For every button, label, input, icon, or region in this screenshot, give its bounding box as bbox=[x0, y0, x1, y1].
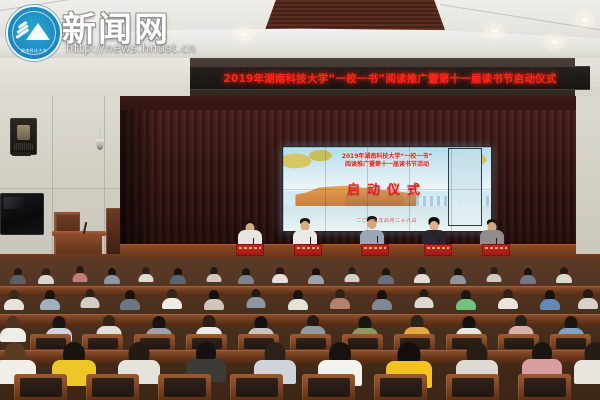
audience-member bbox=[486, 267, 501, 282]
audience-member bbox=[450, 268, 466, 284]
ceiling-seam bbox=[440, 4, 600, 32]
name-placard bbox=[294, 244, 322, 256]
audience-member bbox=[520, 268, 536, 284]
audience-member bbox=[498, 289, 518, 309]
screen-subtitle-block: 2019年湖南科技大学“一校一书” 阅读推广暨第十一届读书节活动 bbox=[283, 153, 491, 169]
audience-member bbox=[80, 289, 99, 308]
speaker-mount bbox=[12, 152, 31, 156]
audience-member bbox=[378, 268, 394, 284]
seat-back bbox=[446, 374, 499, 400]
seat-back bbox=[518, 374, 571, 400]
table-microphone-icon bbox=[310, 237, 311, 244]
logo-chinese-name: 湖南科技大学 bbox=[8, 48, 60, 54]
seat-back bbox=[374, 374, 427, 400]
audience-member bbox=[0, 316, 26, 342]
ceiling-downlight bbox=[238, 30, 251, 38]
name-placard bbox=[236, 244, 264, 256]
logo-mountain-mark bbox=[17, 20, 51, 40]
audience-member bbox=[120, 290, 140, 310]
name-placard bbox=[482, 244, 510, 256]
ceiling-downlight bbox=[578, 16, 591, 24]
audience-member bbox=[540, 290, 560, 310]
seat-back bbox=[158, 374, 211, 400]
screen-line-1: 2019年湖南科技大学“一校一书” bbox=[283, 153, 491, 161]
audience-member bbox=[456, 290, 476, 310]
audience-member bbox=[288, 290, 308, 310]
led-video-wall: 2019年湖南科技大学“一校一书” 阅读推广暨第十一届读书节活动 启动仪式 二〇… bbox=[282, 146, 492, 232]
camera-dome bbox=[96, 139, 104, 150]
speaker-grill bbox=[14, 143, 33, 150]
audience-member bbox=[238, 268, 254, 284]
audience-member bbox=[10, 268, 26, 284]
upper-left-wall bbox=[0, 58, 190, 100]
led-banner-strip: 2019年湖南科技大学“一校一书”阅读推广暨第十一届读书节启动仪式 bbox=[190, 66, 590, 90]
audience-member bbox=[204, 290, 224, 310]
audience-member bbox=[330, 289, 350, 309]
audience-member bbox=[104, 268, 120, 284]
dome-camera-icon bbox=[96, 128, 104, 152]
news-photo-screenshot: 2019年湖南科技大学“一校一书”阅读推广暨第十一届读书节启动仪式 bbox=[0, 0, 600, 400]
name-placard bbox=[424, 244, 452, 256]
audience-member bbox=[578, 289, 598, 309]
name-placard bbox=[361, 244, 389, 256]
logo-peak bbox=[26, 23, 50, 40]
audience-member bbox=[4, 290, 24, 310]
university-logo-icon[interactable]: 湖南科技大学 bbox=[6, 5, 62, 61]
wall-speaker-icon bbox=[10, 118, 37, 155]
seat-back bbox=[230, 374, 283, 400]
audience-member bbox=[246, 289, 265, 308]
seat-back bbox=[86, 374, 139, 400]
ceiling-downlight bbox=[548, 38, 561, 46]
screen-line-2: 阅读推广暨第十一届读书节活动 bbox=[283, 161, 491, 169]
seat-back bbox=[302, 374, 355, 400]
audience-member bbox=[40, 290, 60, 310]
screen-date: 二〇一九年四月二十六日 bbox=[283, 218, 491, 224]
site-url[interactable]: http://news.hnust.cn bbox=[66, 41, 196, 55]
audience-member bbox=[414, 289, 433, 308]
ceiling-downlight bbox=[488, 27, 501, 35]
seat-back bbox=[14, 374, 67, 400]
wall-tv-monitor bbox=[0, 193, 44, 235]
tv-screen-glare bbox=[4, 197, 24, 209]
audience-member bbox=[272, 267, 288, 283]
audience-member bbox=[138, 267, 153, 282]
audience-area bbox=[0, 258, 600, 400]
screen-headline: 启动仪式 bbox=[283, 179, 491, 198]
audience-member bbox=[162, 289, 182, 309]
audience-member bbox=[372, 290, 392, 310]
audience-member bbox=[38, 268, 54, 284]
audience-member bbox=[344, 267, 359, 282]
speaker-cone bbox=[17, 125, 30, 140]
table-microphone-icon bbox=[377, 236, 378, 243]
banner-title-text: 2019年湖南科技大学“一校一书”阅读推广暨第十一届读书节启动仪式 bbox=[223, 71, 556, 86]
audience-member bbox=[170, 268, 186, 284]
ceiling-wood-panel bbox=[265, 0, 445, 30]
curtain-shadow bbox=[120, 110, 156, 260]
audience-member bbox=[414, 267, 430, 283]
audience-member bbox=[574, 342, 600, 384]
audience-member bbox=[308, 268, 324, 284]
table-microphone-icon bbox=[438, 237, 439, 244]
audience-member bbox=[206, 267, 221, 282]
audience-member bbox=[556, 267, 572, 283]
audience-member bbox=[72, 266, 87, 282]
